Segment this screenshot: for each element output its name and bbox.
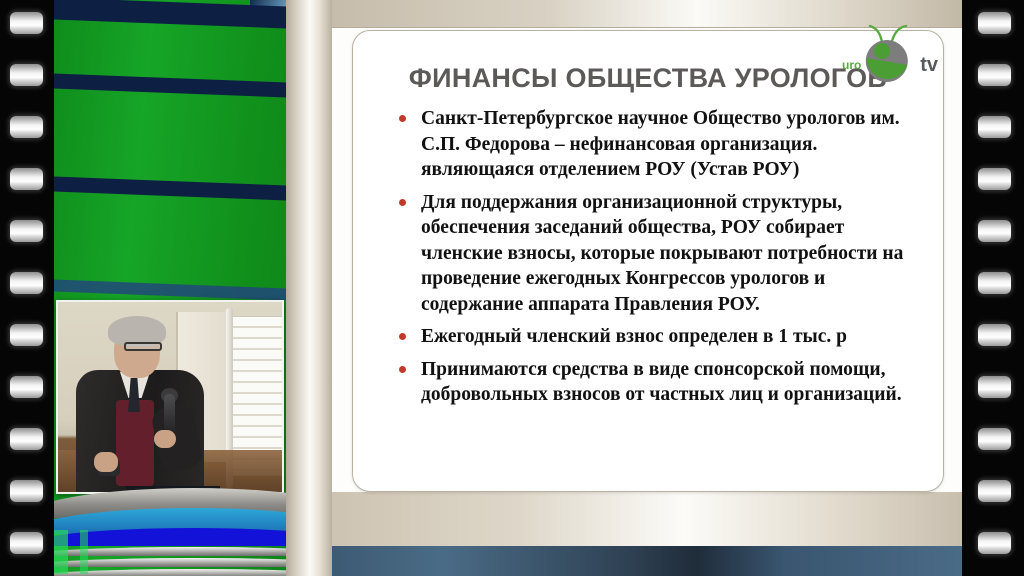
logo-wordmark-tv: tv — [920, 54, 938, 77]
studio-column — [286, 0, 332, 576]
film-sprocket-hole — [978, 64, 1011, 86]
film-sprocket-hole — [10, 376, 43, 398]
slide-card: ФИНАНСЫ ОБЩЕСТВА УРОЛОГОВ Санкт-Петербур… — [352, 30, 944, 492]
film-sprocket-hole — [978, 376, 1011, 398]
film-sprocket-hole — [978, 532, 1011, 554]
film-strip-left — [0, 0, 54, 576]
film-sprocket-hole — [10, 428, 43, 450]
speaker-hand — [154, 430, 176, 448]
film-sprocket-hole — [10, 532, 43, 554]
film-strip-right — [962, 0, 1024, 576]
list-item: Санкт-Петербургское научное Общество уро… — [397, 106, 917, 183]
film-sprocket-hole — [10, 168, 43, 190]
slide-bottom-band — [330, 492, 962, 546]
film-sprocket-hole — [978, 220, 1011, 242]
film-sprocket-hole — [10, 64, 43, 86]
urotv-logo: uro tv — [836, 24, 940, 86]
list-item: Ежегодный членский взнос определен в 1 т… — [397, 324, 917, 350]
glasses-icon — [124, 342, 162, 351]
film-sprocket-hole — [978, 324, 1011, 346]
speaker-hand — [94, 452, 118, 472]
film-sprocket-hole — [978, 480, 1011, 502]
logo-wordmark-uro: uro — [842, 58, 861, 72]
film-sprocket-hole — [978, 168, 1011, 190]
film-sprocket-hole — [10, 12, 43, 34]
film-sprocket-hole — [978, 116, 1011, 138]
list-item: Принимаются средства в виде спонсорской … — [397, 357, 917, 408]
film-sprocket-hole — [10, 272, 43, 294]
speaker-photo — [56, 300, 284, 494]
presentation-slide-area: ФИНАНСЫ ОБЩЕСТВА УРОЛОГОВ Санкт-Петербур… — [330, 0, 962, 576]
film-sprocket-hole — [978, 12, 1011, 34]
film-sprocket-hole — [978, 272, 1011, 294]
film-sprocket-hole — [978, 428, 1011, 450]
desk-accent-lights — [54, 530, 120, 574]
slide-bullet-list: Санкт-Петербургское научное Общество уро… — [397, 106, 917, 408]
speaker-vest — [116, 400, 154, 486]
film-sprocket-hole — [10, 324, 43, 346]
film-sprocket-hole — [10, 220, 43, 242]
film-sprocket-hole — [10, 116, 43, 138]
slide-footer-band — [330, 546, 962, 576]
list-item: Для поддержания организационной структур… — [397, 190, 917, 318]
screen: ФИНАНСЫ ОБЩЕСТВА УРОЛОГОВ Санкт-Петербур… — [0, 0, 1024, 576]
film-sprocket-hole — [10, 480, 43, 502]
